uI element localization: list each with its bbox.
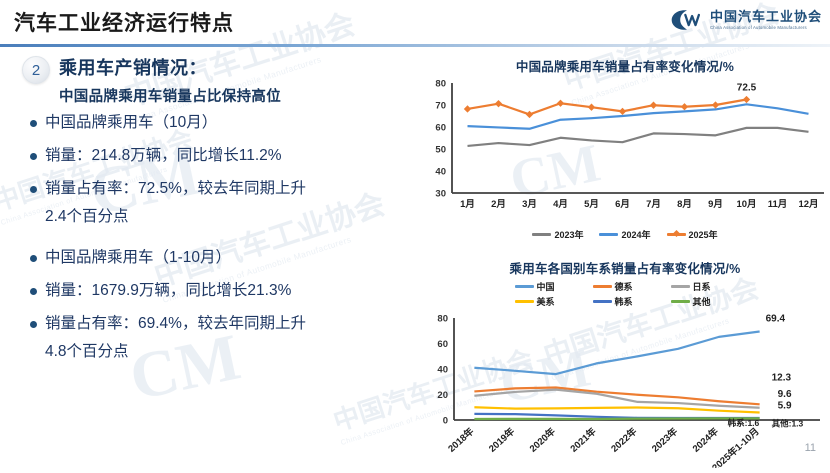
logo-title-en: China Association of Automobile Manufact… [710, 26, 822, 30]
chart-share-by-origin: 乘用车各国别车系销量占有率变化情况/% 中国德系日系美系韩系其他 0204060… [420, 258, 830, 468]
logo-text: 中国汽车工业协会 China Association of Automobile… [710, 10, 822, 30]
svg-text:5.9: 5.9 [778, 400, 792, 411]
list-item: 销量占有率：72.5%，较去年同期上升 [30, 178, 415, 200]
svg-text:10月: 10月 [736, 199, 756, 210]
legend-label: 中国 [537, 280, 555, 293]
legend-item: 美系 [515, 295, 580, 308]
legend-item: 2025年 [667, 228, 718, 241]
svg-text:2020年: 2020年 [527, 425, 558, 455]
chart-title: 中国品牌乘用车销量占有率变化情况/% [420, 56, 830, 75]
list-item-label: 销量：214.8万辆，同比增长11.2% [45, 145, 282, 167]
legend-swatch-icon [671, 300, 690, 303]
svg-text:7月: 7月 [646, 199, 661, 210]
list-item-label: 销量占有率：72.5%，较去年同期上升 [45, 178, 306, 200]
svg-text:2024年: 2024年 [690, 425, 721, 455]
legend-item: 韩系 [593, 295, 658, 308]
bullet-list: 中国品牌乘用车（10月） 销量：214.8万辆，同比增长11.2% 销量占有率：… [30, 112, 415, 374]
legend-item: 德系 [593, 280, 658, 293]
list-item: 中国品牌乘用车（10月） [30, 112, 415, 134]
svg-text:70: 70 [435, 101, 446, 112]
bullet-icon [30, 120, 37, 127]
svg-text:30: 30 [435, 189, 446, 200]
svg-text:2月: 2月 [491, 199, 506, 210]
list-item-label: 中国品牌乘用车（1-10月） [45, 247, 231, 269]
legend-label: 其他 [693, 295, 711, 308]
legend-swatch-icon [593, 285, 612, 288]
legend-item: 2024年 [599, 228, 650, 241]
svg-text:80: 80 [437, 314, 448, 325]
svg-text:40: 40 [437, 365, 448, 376]
legend-item: 2023年 [532, 228, 583, 241]
chart-plot-area: 0204060802018年2019年2020年2021年2022年2023年2… [420, 308, 830, 468]
legend-swatch-icon [599, 233, 618, 236]
legend-swatch-icon [593, 300, 612, 303]
list-item-label: 销量占有率：69.4%，较去年同期上升 [45, 313, 306, 335]
svg-text:50: 50 [435, 145, 446, 156]
svg-text:其他:1.3: 其他:1.3 [772, 418, 804, 428]
page-number: 11 [805, 442, 816, 454]
svg-text:20: 20 [437, 390, 448, 401]
list-item-label: 销量：1679.9万辆，同比增长21.3% [45, 280, 291, 302]
legend-swatch-icon [671, 285, 690, 288]
svg-text:9.6: 9.6 [778, 389, 792, 400]
left-content-panel: 2 乘用车产销情况： 中国品牌乘用车销量占比保持高位 中国品牌乘用车（10月） … [0, 48, 415, 468]
svg-text:72.5: 72.5 [737, 83, 757, 94]
section-heading: 2 乘用车产销情况： 中国品牌乘用车销量占比保持高位 [22, 54, 281, 106]
svg-text:40: 40 [435, 167, 446, 178]
svg-text:8月: 8月 [677, 199, 692, 210]
legend-label: 2024年 [621, 228, 650, 241]
chart-plot-area: 3040506070801月2月3月4月5月6月7月8月9月10月11月12月7… [420, 75, 830, 225]
svg-text:6月: 6月 [615, 199, 630, 210]
svg-text:2021年: 2021年 [568, 425, 599, 455]
legend-label: 日系 [693, 280, 711, 293]
cm-logo-icon [670, 8, 704, 32]
legend-label: 德系 [615, 280, 633, 293]
legend-item: 其他 [671, 295, 736, 308]
list-item: 中国品牌乘用车（1-10月） [30, 247, 415, 269]
chart-legend: 中国德系日系美系韩系其他 [500, 280, 750, 308]
legend-swatch-icon [515, 300, 534, 303]
svg-text:12月: 12月 [798, 199, 818, 210]
bullet-icon [30, 288, 37, 295]
svg-text:2019年: 2019年 [486, 425, 517, 455]
svg-text:1月: 1月 [460, 199, 475, 210]
legend-swatch-icon [532, 233, 551, 236]
legend-item: 日系 [671, 280, 736, 293]
svg-text:5月: 5月 [584, 199, 599, 210]
chart-title: 乘用车各国别车系销量占有率变化情况/% [420, 258, 830, 277]
page-title: 汽车工业经济运行特点 [14, 7, 234, 37]
legend-marker-icon [672, 229, 679, 236]
svg-text:4月: 4月 [553, 199, 568, 210]
chart-legend: 2023年2024年2025年 [420, 228, 830, 241]
logo-title-cn: 中国汽车工业协会 [710, 10, 822, 23]
header-divider [0, 44, 830, 47]
svg-text:80: 80 [435, 79, 446, 90]
legend-swatch-icon [667, 233, 686, 236]
legend-label: 2023年 [554, 228, 583, 241]
cam-logo: 中国汽车工业协会 China Association of Automobile… [670, 8, 822, 32]
svg-text:12.3: 12.3 [772, 372, 792, 383]
svg-text:韩系:1.6: 韩系:1.6 [728, 418, 760, 428]
svg-text:2018年: 2018年 [446, 425, 477, 455]
bullet-icon [30, 255, 37, 262]
list-item: 销量占有率：69.4%，较去年同期上升 [30, 313, 415, 335]
svg-text:9月: 9月 [708, 199, 723, 210]
legend-item: 中国 [515, 280, 580, 293]
section-title-line2: 中国品牌乘用车销量占比保持高位 [59, 85, 281, 106]
legend-label: 美系 [537, 295, 555, 308]
svg-text:60: 60 [435, 123, 446, 134]
legend-swatch-icon [515, 285, 534, 288]
list-item: 销量：214.8万辆，同比增长11.2% [30, 145, 415, 167]
svg-text:0: 0 [443, 416, 448, 427]
bullet-icon [30, 153, 37, 160]
svg-text:2022年: 2022年 [609, 425, 640, 455]
svg-text:69.4: 69.4 [766, 314, 786, 325]
list-item-continuation: 4.8个百分点 [45, 341, 415, 363]
svg-text:11月: 11月 [768, 199, 788, 210]
legend-label: 2025年 [689, 228, 718, 241]
section-number-badge: 2 [22, 56, 50, 84]
list-item: 销量：1679.9万辆，同比增长21.3% [30, 280, 415, 302]
list-item-continuation: 2.4个百分点 [45, 206, 415, 228]
list-item-label: 中国品牌乘用车（10月） [45, 112, 217, 134]
bullet-icon [30, 321, 37, 328]
svg-text:60: 60 [437, 339, 448, 350]
section-title-line1: 乘用车产销情况： [59, 54, 281, 80]
legend-label: 韩系 [615, 295, 633, 308]
bullet-icon [30, 186, 37, 193]
svg-text:2023年: 2023年 [649, 425, 680, 455]
svg-text:3月: 3月 [522, 199, 537, 210]
chart-share-by-month: 中国品牌乘用车销量占有率变化情况/% 3040506070801月2月3月4月5… [420, 56, 830, 246]
